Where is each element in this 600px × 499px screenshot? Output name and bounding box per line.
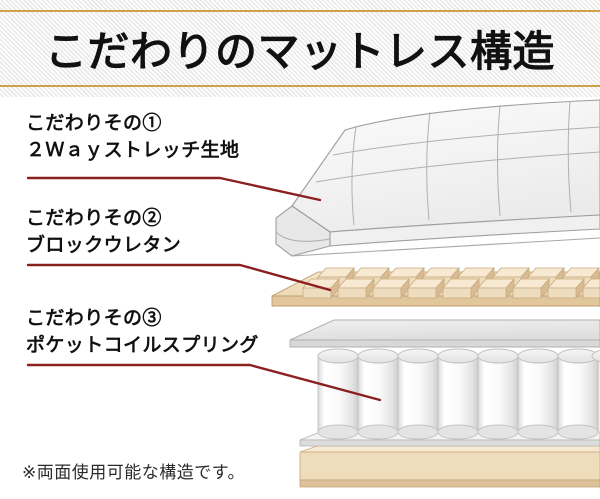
quilting-seams-horizontal bbox=[316, 127, 600, 182]
mattress-structure-infographic: こだわりのマットレス構造 bbox=[0, 0, 600, 499]
label-3-index: こだわりその③ bbox=[26, 305, 259, 332]
label-pocket-coil: こだわりその③ ポケットコイルスプリング bbox=[26, 305, 259, 359]
label-3-name: ポケットコイルスプリング bbox=[26, 332, 259, 359]
label-1-index: こだわりその① bbox=[26, 110, 239, 137]
label-block-urethane: こだわりその② ブロックウレタン bbox=[26, 205, 181, 259]
coil-cylinder bbox=[592, 349, 600, 432]
label-2-name: ブロックウレタン bbox=[26, 232, 181, 259]
layer-pocket-coil-springs bbox=[318, 340, 600, 440]
coil-cylinder bbox=[518, 349, 558, 439]
layer-felt-sheet-upper bbox=[290, 320, 600, 347]
header-rule-bottom bbox=[0, 85, 600, 87]
coil-cylinder bbox=[558, 349, 598, 439]
layer-block-urethane-bottom bbox=[300, 438, 600, 487]
coil-cylinder bbox=[478, 349, 518, 439]
coil-front-row bbox=[318, 349, 600, 439]
label-stretch-fabric: こだわりその① ２Ｗａｙストレッチ生地 bbox=[26, 110, 239, 164]
urethane-block-row-front bbox=[303, 279, 600, 298]
page-title: こだわりのマットレス構造 bbox=[0, 12, 600, 85]
label-1-name: ２Ｗａｙストレッチ生地 bbox=[26, 137, 239, 164]
header-band: こだわりのマットレス構造 bbox=[0, 0, 600, 97]
leader-line-2 bbox=[28, 265, 330, 290]
coil-cylinder bbox=[398, 349, 438, 439]
urethane-block-row-back bbox=[318, 268, 599, 287]
layer-quilted-stretch-cover bbox=[276, 100, 600, 256]
coil-cylinder bbox=[438, 349, 478, 439]
layer-block-urethane-top bbox=[272, 268, 600, 306]
leader-line-1 bbox=[28, 178, 320, 200]
coil-cylinder bbox=[318, 349, 358, 439]
leader-line-3 bbox=[28, 365, 380, 400]
layer-felt-sheet-lower bbox=[300, 424, 600, 446]
coil-back-row bbox=[330, 340, 600, 345]
quilting-seams bbox=[352, 101, 571, 225]
label-2-index: こだわりその② bbox=[26, 205, 181, 232]
coil-cylinder bbox=[358, 349, 398, 439]
footnote-double-sided: ※両面使用可能な構造です。 bbox=[22, 458, 245, 483]
